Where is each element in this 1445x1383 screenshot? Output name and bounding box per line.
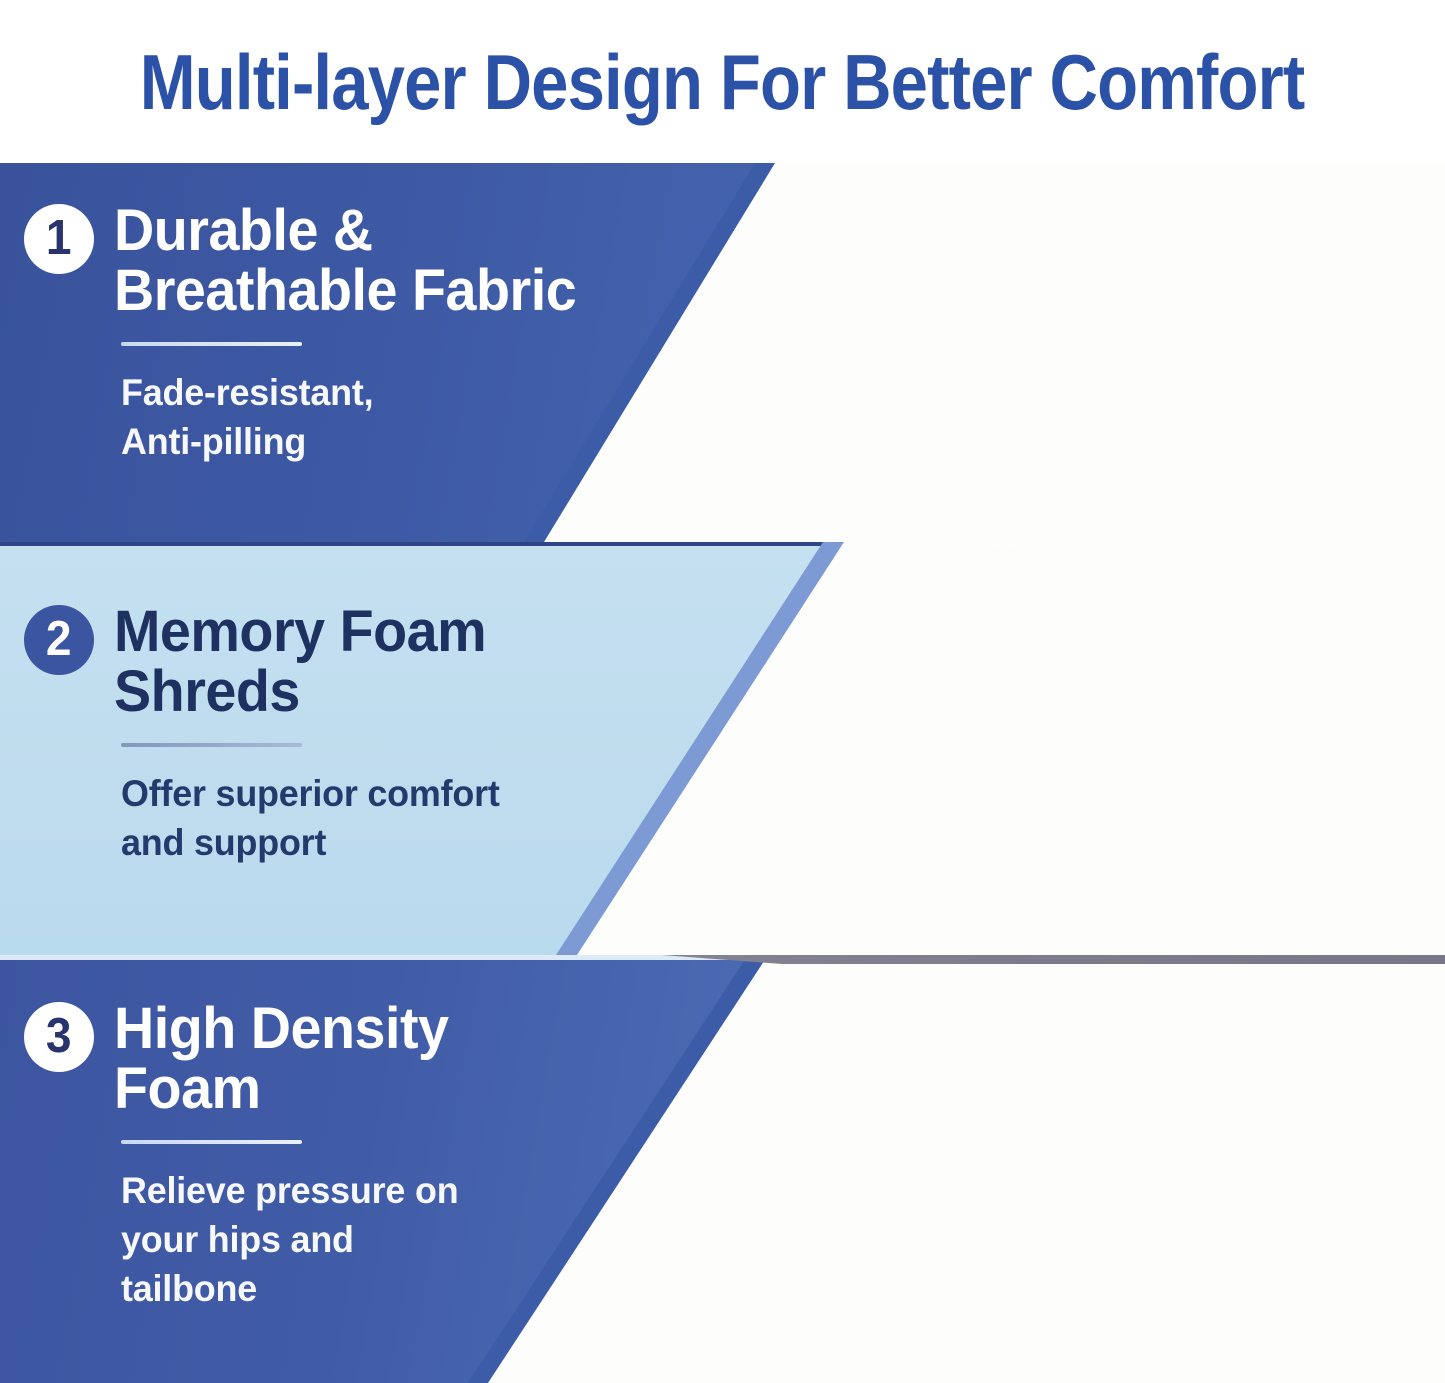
header-banner: Multi-layer Design For Better Comfort — [0, 0, 1445, 163]
feature-panel-3: 3 High Density Foam Relieve pressure on … — [0, 955, 1445, 1383]
panel-2-subtitle-line-2: and support — [121, 819, 500, 868]
panel-1-content: 1 Durable & Breathable Fabric Fade-resis… — [24, 201, 595, 467]
panel-2-divider — [121, 743, 302, 747]
panel-2-subtitle-line-1: Offer superior comfort — [121, 770, 500, 819]
panel-3-subtitle-line-2: your hips and — [121, 1216, 458, 1265]
step-number-2: 2 — [46, 615, 72, 664]
panel-1-subtitle-line-1: Fade-resistant, — [121, 369, 581, 418]
panel-2-photo-frame — [556, 542, 1445, 955]
panel-1-subtitle-line-2: Anti-pilling — [121, 418, 581, 467]
page-title: Multi-layer Design For Better Comfort — [140, 43, 1305, 121]
panel-1-title-row: 1 Durable & Breathable Fabric — [24, 201, 595, 320]
panel-2-headline: Memory Foam Shreds — [114, 602, 486, 721]
panel-3-headline-line-1: High Density — [114, 999, 449, 1059]
panel-2-content: 2 Memory Foam Shreds Offer superior comf… — [24, 602, 511, 868]
panel-2-headline-line-1: Memory Foam — [114, 602, 486, 662]
panel-1-divider — [121, 342, 302, 346]
panel-3-photo-region — [468, 955, 1445, 1383]
panel-1-headline-line-2: Breathable Fabric — [114, 261, 576, 321]
feature-panel-2: 2 Memory Foam Shreds Offer superior comf… — [0, 542, 1445, 955]
step-badge-3: 3 — [24, 1002, 94, 1072]
panel-1-photo-region — [524, 163, 1445, 542]
panel-1-subtitle: Fade-resistant, Anti-pilling — [121, 369, 581, 467]
step-badge-2: 2 — [24, 605, 94, 675]
panel-3-subtitle: Relieve pressure on your hips and tailbo… — [121, 1167, 458, 1313]
panel-2-headline-line-2: Shreds — [114, 662, 486, 722]
panel-3-subtitle-line-1: Relieve pressure on — [121, 1167, 458, 1216]
panel-3-content: 3 High Density Foam Relieve pressure on … — [24, 999, 469, 1314]
feature-panel-1: 1 Durable & Breathable Fabric Fade-resis… — [0, 163, 1445, 542]
panel-2-title-row: 2 Memory Foam Shreds — [24, 602, 511, 721]
panel-3-headline-line-2: Foam — [114, 1059, 449, 1119]
panel-2-subtitle: Offer superior comfort and support — [121, 770, 500, 868]
panel-3-subtitle-line-3: tailbone — [121, 1265, 458, 1314]
panel-1-headline: Durable & Breathable Fabric — [114, 201, 576, 320]
panel-1-headline-line-1: Durable & — [114, 201, 576, 261]
panel-3-title-row: 3 High Density Foam — [24, 999, 469, 1118]
step-number-3: 3 — [46, 1012, 72, 1061]
step-number-1: 1 — [46, 214, 72, 263]
step-badge-1: 1 — [24, 204, 94, 274]
panel-1-photo-frame — [524, 163, 1445, 542]
panel-2-photo-region — [556, 542, 1445, 955]
panel-3-divider — [121, 1140, 302, 1144]
panel-3-headline: High Density Foam — [114, 999, 449, 1118]
